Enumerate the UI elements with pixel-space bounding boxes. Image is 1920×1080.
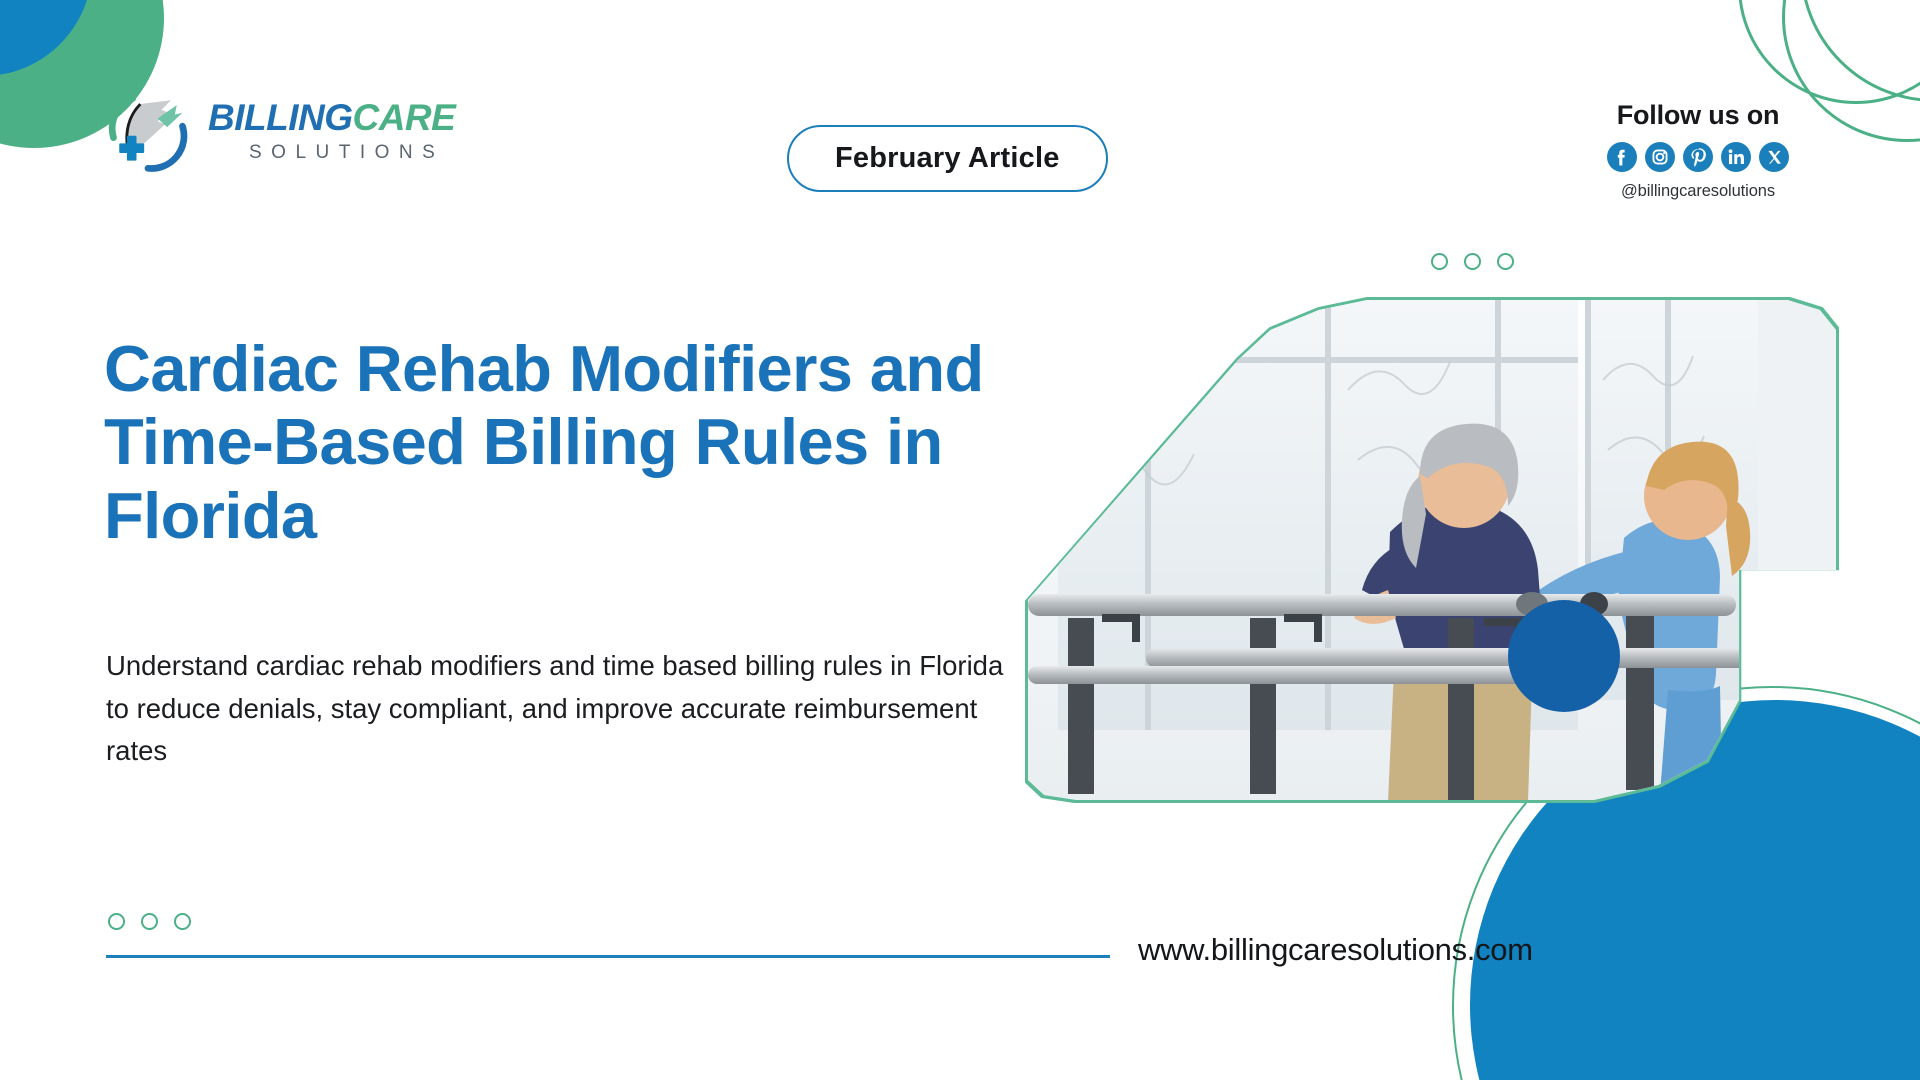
instagram-icon[interactable] bbox=[1645, 142, 1675, 172]
facebook-icon[interactable] bbox=[1607, 142, 1637, 172]
decorative-dot bbox=[108, 913, 125, 930]
top-right-ring-decoration-3 bbox=[1800, 0, 1920, 102]
brand-name-primary: BILLING bbox=[208, 97, 352, 138]
x-twitter-icon[interactable] bbox=[1759, 142, 1789, 172]
photo-clip bbox=[1028, 300, 1836, 800]
pinterest-icon[interactable] bbox=[1683, 142, 1713, 172]
decorative-dot bbox=[141, 913, 158, 930]
brand-name-secondary: CARE bbox=[352, 97, 455, 138]
brand-wordmark: BILLINGCARE SOLUTIONS bbox=[208, 99, 455, 162]
top-right-ring-decoration-1 bbox=[1738, 0, 1920, 104]
decorative-dot bbox=[174, 913, 191, 930]
article-poster: BILLINGCARE SOLUTIONS February Article F… bbox=[0, 0, 1920, 1080]
page-title: Cardiac Rehab Modifiers and Time-Based B… bbox=[104, 332, 1064, 552]
social-handle: @billingcaresolutions bbox=[1576, 182, 1820, 201]
brand-tagline: SOLUTIONS bbox=[208, 143, 455, 162]
article-photo bbox=[1028, 300, 1836, 800]
dot-triad-footer bbox=[108, 913, 191, 930]
decorative-dot bbox=[1464, 253, 1481, 270]
decorative-dot bbox=[1431, 253, 1448, 270]
month-badge[interactable]: February Article bbox=[787, 125, 1108, 192]
linkedin-icon[interactable] bbox=[1721, 142, 1751, 172]
social-heading: Follow us on bbox=[1576, 100, 1820, 131]
social-icon-list bbox=[1576, 142, 1820, 172]
brand-logo[interactable]: BILLINGCARE SOLUTIONS bbox=[100, 84, 455, 176]
dot-triad-top bbox=[1431, 253, 1514, 270]
article-summary: Understand cardiac rehab modifiers and t… bbox=[106, 645, 1016, 773]
top-left-blue-circle-decoration bbox=[0, 0, 92, 76]
footer-divider bbox=[106, 955, 1110, 958]
billingcare-logo-icon bbox=[100, 84, 196, 176]
decorative-dot bbox=[1497, 253, 1514, 270]
social-block: Follow us on bbox=[1576, 100, 1820, 201]
website-url[interactable]: www.billingcaresolutions.com bbox=[1138, 932, 1533, 968]
